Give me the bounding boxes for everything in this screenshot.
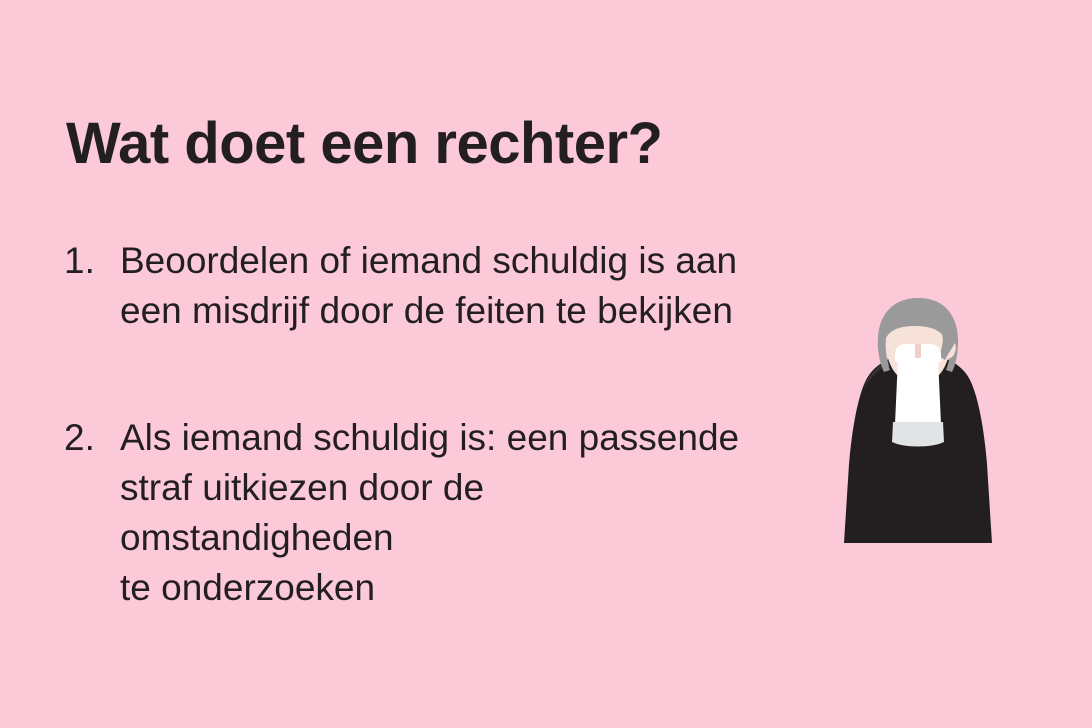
list-item-marker: 2. xyxy=(64,413,120,463)
bef-collar-shadow xyxy=(892,422,944,447)
bef-collar xyxy=(895,358,941,424)
list-item-text: Beoordelen of iemand schuldig is aan een… xyxy=(120,236,764,336)
list-item: 2. Als iemand schuldig is: een passende … xyxy=(64,413,764,613)
judge-illustration xyxy=(838,296,998,552)
page-title: Wat doet een rechter? xyxy=(66,113,926,176)
list-item: 1. Beoordelen of iemand schuldig is aan … xyxy=(64,236,764,336)
list-item-text: Als iemand schuldig is: een passende str… xyxy=(120,413,764,613)
slide: Wat doet een rechter? 1. Beoordelen of i… xyxy=(0,0,1092,728)
collar-band-notch xyxy=(915,344,921,360)
numbered-list: 1. Beoordelen of iemand schuldig is aan … xyxy=(64,236,764,613)
list-item-marker: 1. xyxy=(64,236,120,286)
